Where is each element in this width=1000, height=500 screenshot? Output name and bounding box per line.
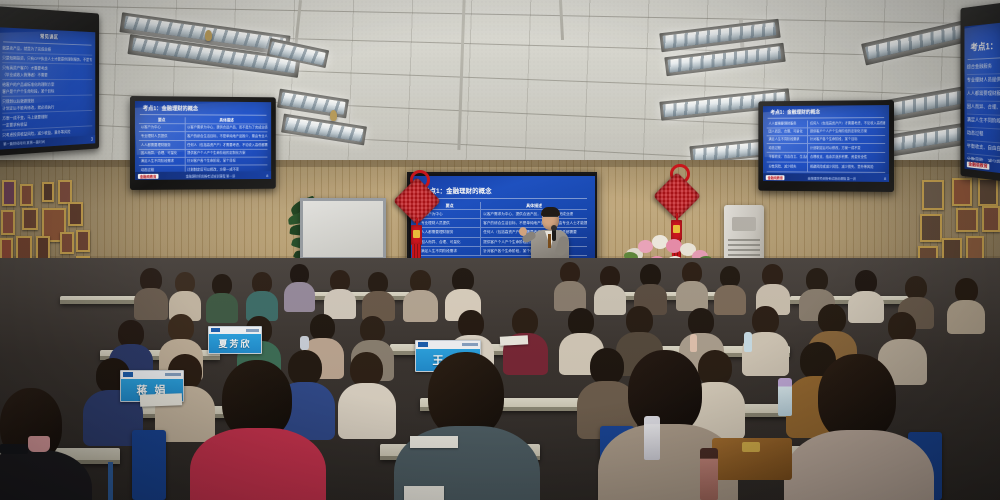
glasses-icon [543, 216, 558, 220]
divider [967, 87, 1000, 88]
head [568, 308, 594, 336]
table-cell: 规避风险或减少风险、减少损失、意外等风险 [808, 163, 885, 172]
photo-frame [60, 232, 74, 254]
placard-header [416, 341, 480, 349]
table-header-cell: 具体描述 [185, 117, 267, 123]
torso [554, 281, 586, 311]
slide-title: 考点1：金融理财的概念 [763, 105, 889, 116]
head [626, 306, 653, 335]
slide-page-number: 3 [91, 137, 93, 143]
photo-frame [956, 208, 978, 232]
notebook [140, 393, 182, 406]
table-cell: 任何人（包括高资产户）才需要考虑，不论收入高低都需要 [808, 120, 885, 127]
thermos [700, 448, 718, 500]
head [168, 314, 194, 342]
table-cell: 平衡收支、自由自主、生活品质 [767, 153, 808, 162]
placard-logo-text [246, 329, 259, 332]
photo-frame [922, 180, 944, 210]
torso [784, 430, 934, 500]
water-bottle [690, 334, 697, 352]
slide-footer-text: 第一篇财经时间 某第一篇时间 [3, 140, 45, 147]
head [698, 350, 732, 386]
table-cell: 合理收支、结余并逐步积累、资金安全性 [808, 153, 885, 162]
notebook [404, 486, 444, 500]
head [360, 316, 385, 343]
water-bottle [644, 416, 660, 460]
sprinkler-head [330, 110, 337, 121]
table-cell: 针对客户各个生命阶段，某个目标 [808, 136, 885, 143]
table-cell: 提供客户个人产个生命阶段的定制化方案 [185, 150, 267, 157]
table-cell: 分散风险、减少损失 [767, 163, 808, 172]
ac-vent [728, 254, 760, 256]
placard-logo-text [165, 373, 181, 376]
chair [132, 430, 166, 500]
slide-footer: 金融晓教育 金融理财师资格考试培训课程 第一讲 [135, 171, 271, 180]
slide-line: 人人都需要理财服务 [967, 88, 1000, 101]
slide-test-point-1-right: 考点1：金融理财的概念 人人都需要理财服务 任何人（包括高资产户）才需要考虑，不… [763, 105, 889, 182]
presenter-left-hand [519, 227, 527, 236]
slide-page-number: 8 [884, 176, 886, 181]
table-row: 因人而异、合理、可量化 提供客户个人产个生命阶段的定制化方案 [767, 128, 885, 136]
left-wall-tv[interactable]: 常见误区 就是卖产品，就是为了完成业绩 只是短期投资，只有CFP执业人士才能提供… [0, 6, 99, 156]
torso [324, 289, 356, 319]
head [512, 308, 538, 336]
torso [190, 428, 326, 500]
slide-title: 考点1：金融理财的概念 [411, 176, 595, 195]
slide-line: 客户是个产个生命阶段，某个目标 [2, 87, 92, 95]
cup [28, 436, 50, 452]
table-cell: 因人而异、合理、可量化 [139, 150, 185, 157]
table-cell: 针对客户各个生命阶段，某个目标 [185, 158, 267, 165]
slide-footer-logo: 金融晓教育 [967, 161, 990, 169]
water-bottle [778, 378, 792, 416]
slide-line: （毕业或收入微薄者）不需要 [2, 71, 92, 78]
torso [676, 281, 708, 311]
cup [300, 336, 309, 350]
torso [206, 293, 238, 323]
photo-frame [20, 184, 33, 206]
table-cell: 满足人生不同阶段需求 [139, 158, 185, 165]
ac-vent [728, 244, 760, 246]
photo-frame [1, 210, 15, 235]
table-cell: 因人而异、合理、可量化 [767, 128, 808, 135]
divider [768, 117, 885, 119]
bag-clasp-icon [742, 442, 760, 452]
table-row: 以客户为中心 以客户需求为中心，提供合适产品，而不是为了完成业绩 [139, 124, 268, 132]
right-center-tv-screen: 考点1：金融理财的概念 人人都需要理财服务 任何人（包括高资产户）才需要考虑，不… [763, 105, 889, 182]
placard-header [121, 371, 183, 379]
table-cell: 专业理财人员提供 [139, 132, 185, 140]
table-cell: 以客户需求为中心，提供合适产品，而不是为了完成业绩 [185, 124, 267, 131]
table-cell: 满足人生不同阶段需求 [767, 136, 808, 143]
ac-vent [728, 239, 760, 241]
slide-footer-text: 金融理财师资格考试培训课程 第一讲 [808, 175, 856, 180]
head [752, 306, 779, 335]
top-center-tv[interactable]: 考点1：金融理财的概念 要点 具体描述 以客户为中心 以客户需求为中心，提供合适… [130, 96, 276, 190]
photo-frame [58, 180, 72, 204]
torso [338, 383, 396, 439]
photo-frame [982, 206, 1000, 232]
head [288, 350, 322, 386]
table-row: 满足人生不同阶段需求 针对客户各个生命阶段，某个目标 [767, 136, 885, 144]
table-cell: 任何人（包括高资产户）才需要考虑，不论收入高低都需要 [185, 141, 267, 149]
right-wall-tv-screen: 考点1： 综合金融服务 专业理财人员提供 人人都需要理财服务 因人而异、合理、可… [964, 22, 1000, 173]
table-cell: 人人都需要理财服务 [139, 141, 185, 149]
divider [140, 114, 267, 116]
photo-frame [978, 178, 998, 206]
photo-frame [68, 202, 83, 226]
head [688, 308, 714, 336]
slide-title: 考点1：金融理财的概念 [135, 101, 271, 113]
slide-title: 考点1： [964, 38, 1000, 53]
divider [2, 79, 92, 80]
table-cell: 以客户为中心 [139, 124, 185, 131]
head [818, 354, 896, 442]
table-row: 专业理财人员提供 客户的综合生活目标，不是单纯地产品推介，需由专业人士才能提供相… [139, 132, 268, 141]
photo-frame [36, 236, 50, 260]
table-cell: 人人都需要理财服务 [767, 120, 808, 127]
right-wall-tv[interactable]: 考点1： 综合金融服务 专业理财人员提供 人人都需要理财服务 因人而异、合理、可… [960, 2, 1000, 182]
presenter-tie [548, 234, 551, 248]
table-cell: 计划制定后可以修改，方案一成不变 [808, 144, 885, 152]
photo-frame [952, 178, 972, 206]
photo-frame [2, 180, 16, 206]
audience-seating-area: 夏芳欣 王 煜 [0, 258, 1000, 500]
photo-frame [22, 208, 38, 230]
slide-footer-text: 金融理财师资格考试培训课程 第一讲 [186, 173, 236, 178]
head [310, 314, 335, 341]
placard-header [209, 327, 261, 334]
torso [848, 291, 884, 323]
slide-line: 专业理财人员提供 [967, 74, 1000, 87]
head [888, 312, 916, 342]
photo-frame [76, 230, 90, 252]
table-row: 平衡收支、自由自主、生活品质 合理收支、结余并逐步积累、资金安全性 [767, 153, 885, 163]
slide-test-point-1: 考点1：金融理财的概念 要点 具体描述 以客户为中心 以客户需求为中心，提供合适… [135, 101, 271, 180]
slide-footer: 金融晓教育 金融理财师资格考试培训课程 第一讲 [763, 173, 889, 182]
divider [419, 198, 587, 199]
torso [134, 288, 168, 320]
photo-frame [920, 214, 942, 242]
table-header-cell: 要点 [139, 117, 185, 123]
phone [0, 444, 28, 454]
presenter-hair [541, 207, 560, 216]
torso [714, 285, 746, 315]
slide-test-point-1-list: 考点1： 综合金融服务 专业理财人员提供 人人都需要理财服务 因人而异、合理、可… [964, 22, 1000, 173]
chinese-knot-left [396, 172, 438, 268]
slide-title: 常见误区 [0, 31, 95, 42]
head [458, 310, 484, 338]
right-center-tv[interactable]: 考点1：金融理财的概念 人人都需要理财服务 任何人（包括高资产户）才需要考虑，不… [758, 100, 894, 192]
microphone-head-icon [551, 225, 557, 231]
handbag [712, 438, 792, 480]
torso [947, 300, 985, 334]
slide-line: 综合金融服务 [967, 60, 1000, 74]
torso [403, 290, 438, 322]
water-bottle [744, 332, 752, 352]
placard-logo-icon [123, 372, 133, 377]
desk-leg [108, 462, 113, 500]
flower [638, 240, 653, 253]
torso [284, 282, 315, 312]
head [350, 352, 383, 387]
photo-frame [16, 236, 32, 260]
notebook [500, 335, 528, 345]
notebook [410, 436, 458, 448]
placard-logo-text [462, 343, 478, 346]
ac-display-panel [732, 217, 756, 231]
photo-frame [42, 182, 54, 202]
whiteboard [300, 198, 386, 260]
ac-vent [728, 249, 760, 251]
slide-common-misconceptions: 常见误区 就是卖产品，就是为了完成业绩 只是短期投资，只有CFP执业人士才能提供… [0, 27, 95, 149]
left-wall-tv-screen: 常见误区 就是卖产品，就是为了完成业绩 只是短期投资，只有CFP执业人士才能提供… [0, 27, 95, 149]
slide-footer-logo: 金融晓教育 [766, 175, 785, 180]
placard-logo-icon [211, 328, 220, 332]
head [818, 304, 846, 334]
table-row: 动态过程 计划制定后可以修改，方案一成不变 [767, 144, 885, 153]
placard-name: 夏芳欣 [209, 334, 261, 353]
sprinkler-head [205, 30, 212, 41]
torso [594, 285, 626, 315]
name-placard-mid: 夏芳欣 [208, 326, 262, 354]
knot-tag [411, 225, 422, 245]
head [590, 348, 624, 385]
placard-logo-icon [418, 342, 428, 347]
table-cell: 动态过程 [767, 144, 808, 152]
table-row: 人人都需要理财服务 任何人（包括高资产户）才需要考虑，不论收入高低都需要 [139, 141, 268, 150]
classroom-lecture-photo: 常见误区 就是卖产品，就是为了完成业绩 只是短期投资，只有CFP执业人士才能提供… [0, 0, 1000, 500]
top-center-tv-screen: 考点1：金融理财的概念 要点 具体描述 以客户为中心 以客户需求为中心，提供合适… [135, 101, 271, 180]
table-cell: 客户的综合生活目标，不是单纯地产品推介，需由专业人士才能提供相应服务 [185, 132, 267, 140]
table-cell: 提供客户个人产个生命阶段的定制化方案 [808, 128, 885, 135]
table-row: 分散风险、减少损失 规避风险或减少风险、减少损失、意外等风险 [767, 163, 885, 173]
slide-footer-logo: 金融晓教育 [138, 173, 159, 178]
slide-page-number: 8 [266, 173, 268, 178]
